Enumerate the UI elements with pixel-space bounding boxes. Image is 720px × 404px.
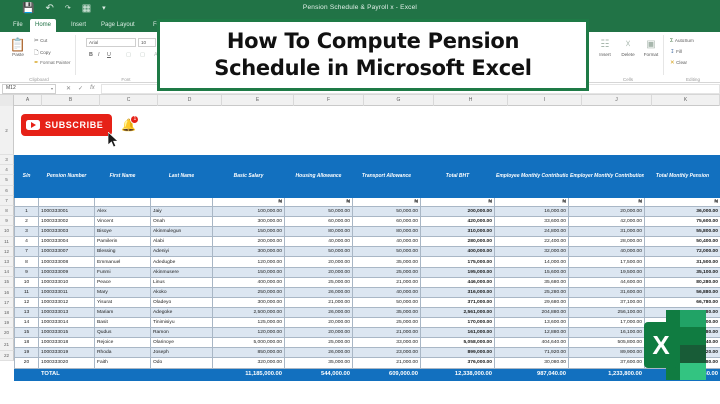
cell-employee-contrib[interactable]: 22,400.00 <box>495 237 569 247</box>
column-header-B[interactable]: B <box>42 95 100 106</box>
cell-employee-contrib[interactable]: 13,600.00 <box>495 318 569 328</box>
cell-sn[interactable]: 13 <box>15 307 39 317</box>
cell-employer-contrib[interactable]: 19,500.00 <box>569 267 645 277</box>
column-header-K[interactable]: K <box>652 95 720 106</box>
cell-total-pension[interactable]: 36,000.00 <box>645 207 720 217</box>
cell-total-bht[interactable]: 280,000.00 <box>421 237 495 247</box>
cell-employer-contrib[interactable]: 31,000.00 <box>569 227 645 237</box>
table-row[interactable]: 181000333018RejoiceOlarinoye5,000,000.00… <box>15 338 720 348</box>
column-header-H[interactable]: H <box>434 95 508 106</box>
cell-last-name[interactable]: Onah <box>151 217 213 227</box>
cell-total-pension[interactable]: 72,000.00 <box>645 247 720 257</box>
cell-basic-salary[interactable]: 5,000,000.00 <box>213 338 285 348</box>
font-size-input[interactable]: 10 <box>138 38 156 47</box>
cell-pension-number[interactable]: 1000333009 <box>39 267 95 277</box>
column-header-G[interactable]: G <box>364 95 434 106</box>
cell-first-name[interactable]: Funmi <box>95 267 151 277</box>
paste-icon: 📋 <box>5 37 31 52</box>
currency-blank <box>151 198 213 207</box>
cell-total-bht[interactable]: 446,000.00 <box>421 277 495 287</box>
subscribe-label: SUBSCRIBE <box>45 120 103 130</box>
underline-button[interactable]: U <box>107 52 111 58</box>
autosum-button[interactable]: ΣAutoSum <box>670 38 694 44</box>
paste-button[interactable]: 📋 Paste <box>5 37 31 57</box>
borders-icon[interactable]: ▢ <box>126 52 131 58</box>
cell-pension-number[interactable]: 1000333020 <box>39 358 95 368</box>
row-header[interactable]: 14 <box>0 267 14 277</box>
table-row[interactable]: 121000333012YisuratOladeyo300,000.0021,0… <box>15 297 720 307</box>
cell-last-name[interactable]: Jaiy <box>151 207 213 217</box>
cell-basic-salary[interactable]: 150,000.00 <box>213 227 285 237</box>
cell-housing[interactable]: 50,000.00 <box>285 247 353 257</box>
currency-symbol-row: ₦ ₦ ₦ ₦ ₦ ₦ ₦ <box>15 198 720 207</box>
scissors-icon: ✂ <box>34 38 39 44</box>
col-total-bht: Total BHT <box>421 156 495 198</box>
cell-employer-contrib[interactable]: 505,800.00 <box>569 338 645 348</box>
row-header[interactable]: 11 <box>0 237 14 247</box>
cell-last-name[interactable]: Akinmusere <box>151 267 213 277</box>
total-employer-contribution: 1,233,800.00 <box>569 368 645 380</box>
tab-page-layout[interactable]: Page Layout <box>96 19 140 32</box>
cell-employer-contrib[interactable]: 31,600.00 <box>569 287 645 297</box>
cell-first-name[interactable]: Faith <box>95 358 151 368</box>
cell-basic-salary[interactable]: 850,000.00 <box>213 348 285 358</box>
cell-pension-number[interactable]: 1000333004 <box>39 237 95 247</box>
cell-sn[interactable]: 20 <box>15 358 39 368</box>
row-header[interactable]: 21 <box>0 339 14 351</box>
cell-employee-contrib[interactable]: 32,000.00 <box>495 247 569 257</box>
cell-housing[interactable]: 40,000.00 <box>285 237 353 247</box>
cell-last-name[interactable]: Adegoke <box>151 307 213 317</box>
row-header[interactable]: 20 <box>0 328 14 338</box>
cell-employer-contrib[interactable]: 17,000.00 <box>569 318 645 328</box>
row-header[interactable]: 5 <box>0 175 14 185</box>
col-housing-allowance: Housing Allowance <box>285 156 353 198</box>
cell-total-bht[interactable]: 400,000.00 <box>421 247 495 257</box>
cell-first-name[interactable]: Bisoye <box>95 227 151 237</box>
table-row[interactable]: 151000333015QudusRamon120,000.0020,000.0… <box>15 328 720 338</box>
cell-housing[interactable]: 25,000.00 <box>285 338 353 348</box>
table-row[interactable]: 31000333003BisoyeAkinmulegun150,000.0080… <box>15 227 720 237</box>
col-first-name: First Name <box>95 156 151 198</box>
cell-employer-contrib[interactable]: 20,000.00 <box>569 207 645 217</box>
cell-employee-contrib[interactable]: 25,280.00 <box>495 287 569 297</box>
cell-first-name[interactable]: Rejoice <box>95 338 151 348</box>
cell-housing[interactable]: 20,000.00 <box>285 267 353 277</box>
fill-icon: ↧ <box>670 49 675 55</box>
cell-employee-contrib[interactable]: 71,920.00 <box>495 348 569 358</box>
cell-transport[interactable]: 25,000.00 <box>353 267 421 277</box>
table-row[interactable]: 101000333010PeaceLinus400,000.0025,000.0… <box>15 277 720 287</box>
cell-total-bht[interactable]: 371,000.00 <box>421 297 495 307</box>
ribbon-group-cells: ☷ Insert ☓ Delete ▣ Format Cells <box>592 33 664 82</box>
tab-insert[interactable]: Insert <box>66 19 91 32</box>
cut-button[interactable]: ✂Cut <box>34 38 47 44</box>
cell-transport[interactable]: 50,000.00 <box>353 207 421 217</box>
row-header[interactable]: 15 <box>0 277 14 287</box>
font-name-input[interactable]: Arial <box>86 38 136 47</box>
cell-pension-number[interactable]: 1000333001 <box>39 207 95 217</box>
table-row[interactable]: 201000333020FaithOdo320,000.0035,000.002… <box>15 358 720 368</box>
cell-transport[interactable]: 25,000.00 <box>353 318 421 328</box>
cell-employee-contrib[interactable]: 33,600.00 <box>495 217 569 227</box>
notification-bell[interactable]: 🔔 1 <box>120 115 136 135</box>
cell-employer-contrib[interactable]: 42,000.00 <box>569 217 645 227</box>
cell-total-bht[interactable]: 161,000.00 <box>421 328 495 338</box>
cell-transport[interactable]: 21,000.00 <box>353 328 421 338</box>
italic-button[interactable]: I <box>98 52 100 58</box>
column-header-row: A B C D E F G H I J K <box>0 95 720 106</box>
cell-transport[interactable]: 80,000.00 <box>353 227 421 237</box>
cell-basic-salary[interactable]: 100,000.00 <box>213 207 285 217</box>
pension-schedule-table: S/n Pension Number First Name Last Name … <box>14 155 720 381</box>
currency-total-bht: ₦ <box>421 198 495 207</box>
cell-basic-salary[interactable]: 320,000.00 <box>213 358 285 368</box>
cell-total-bht[interactable]: 5,058,000.00 <box>421 338 495 348</box>
group-divider <box>75 35 76 75</box>
cell-housing[interactable]: 20,000.00 <box>285 328 353 338</box>
cell-basic-salary[interactable]: 125,000.00 <box>213 318 285 328</box>
cell-pension-number[interactable]: 1000333018 <box>39 338 95 348</box>
fill-color-icon[interactable]: ▢ <box>140 52 145 58</box>
column-header-F[interactable]: F <box>294 95 364 106</box>
cell-housing[interactable]: 80,000.00 <box>285 227 353 237</box>
cell-employee-contrib[interactable]: 204,880.00 <box>495 307 569 317</box>
cell-employer-contrib[interactable]: 44,600.00 <box>569 277 645 287</box>
cell-pension-number[interactable]: 1000333008 <box>39 257 95 267</box>
cell-employer-contrib[interactable]: 17,500.00 <box>569 257 645 267</box>
cell-basic-salary[interactable]: 2,500,000.00 <box>213 307 285 317</box>
cell-first-name[interactable]: Pamilerin <box>95 237 151 247</box>
cell-housing[interactable]: 21,000.00 <box>285 297 353 307</box>
cell-total-bht[interactable]: 175,000.00 <box>421 257 495 267</box>
table-row[interactable]: 41000333004PamilerinAlabi200,000.0040,00… <box>15 237 720 247</box>
group-label-clipboard: Clipboard <box>2 77 76 82</box>
delete-icon: ☓ <box>617 37 639 52</box>
row-header[interactable]: 13 <box>0 257 14 267</box>
cell-employee-contrib[interactable]: 15,600.00 <box>495 267 569 277</box>
cell-total-bht[interactable]: 420,000.00 <box>421 217 495 227</box>
col-basic-salary: Basic Salary <box>213 156 285 198</box>
cell-housing[interactable]: 50,000.00 <box>285 207 353 217</box>
table-row[interactable]: 141000333014BasitTinimisiyu125,000.0020,… <box>15 318 720 328</box>
col-pension-number: Pension Number <box>39 156 95 198</box>
cell-pension-number[interactable]: 1000333011 <box>39 287 95 297</box>
overlay-title-line-1: How To Compute Pension <box>227 28 519 55</box>
cell-sn[interactable]: 2 <box>15 217 39 227</box>
cell-total-bht[interactable]: 170,000.00 <box>421 318 495 328</box>
cell-pension-number[interactable]: 1000333015 <box>39 328 95 338</box>
cell-sn[interactable]: 7 <box>15 247 39 257</box>
cell-sn[interactable]: 10 <box>15 277 39 287</box>
total-transport: 609,000.00 <box>353 368 421 380</box>
cell-total-pension[interactable]: 55,800.00 <box>645 227 720 237</box>
cell-last-name[interactable]: Joseph <box>151 348 213 358</box>
cell-total-bht[interactable]: 899,000.00 <box>421 348 495 358</box>
row-header[interactable]: 19 <box>0 318 14 328</box>
cell-employee-contrib[interactable]: 14,000.00 <box>495 257 569 267</box>
clear-button[interactable]: ✕Clear <box>670 60 687 66</box>
currency-blank <box>95 198 151 207</box>
cancel-formula-button[interactable]: ✕ <box>66 85 71 92</box>
insert-icon: ☷ <box>594 37 616 52</box>
cell-employee-contrib[interactable]: 404,640.00 <box>495 338 569 348</box>
cell-employee-contrib[interactable]: 12,880.00 <box>495 328 569 338</box>
currency-blank <box>39 198 95 207</box>
table-row[interactable]: 21000333002VincentOnah300,000.0060,000.0… <box>15 217 720 227</box>
currency-employer: ₦ <box>569 198 645 207</box>
row-header[interactable]: 16 <box>0 288 14 298</box>
cell-total-bht[interactable]: 195,000.00 <box>421 267 495 277</box>
cell-pension-number[interactable]: 1000333014 <box>39 318 95 328</box>
cell-total-pension[interactable]: 56,880.00 <box>645 287 720 297</box>
cell-first-name[interactable]: Alex <box>95 207 151 217</box>
cell-total-pension[interactable]: 35,100.00 <box>645 267 720 277</box>
row-header[interactable]: 18 <box>0 308 14 318</box>
cell-pension-number[interactable]: 1000333012 <box>39 297 95 307</box>
name-box[interactable]: M12 ▾ <box>2 84 56 94</box>
cell-last-name[interactable]: Tinimisiyu <box>151 318 213 328</box>
cell-pension-number[interactable]: 1000333013 <box>39 307 95 317</box>
row-header[interactable]: 8 <box>0 206 14 216</box>
cell-sn[interactable]: 18 <box>15 338 39 348</box>
bold-button[interactable]: B <box>89 52 93 58</box>
cell-total-pension[interactable]: 75,600.00 <box>645 217 720 227</box>
cell-first-name[interactable]: Qudus <box>95 328 151 338</box>
delete-cells-button[interactable]: ☓ Delete <box>617 37 639 57</box>
cell-basic-salary[interactable]: 200,000.00 <box>213 237 285 247</box>
cell-basic-salary[interactable]: 150,000.00 <box>213 267 285 277</box>
cell-basic-salary[interactable]: 300,000.00 <box>213 217 285 227</box>
cell-total-bht[interactable]: 200,000.00 <box>421 207 495 217</box>
select-all-corner[interactable] <box>0 95 14 106</box>
insert-function-button[interactable]: fx <box>90 85 95 92</box>
eraser-icon: ✕ <box>670 60 675 66</box>
cell-employee-contrib[interactable]: 35,680.00 <box>495 277 569 287</box>
table-row[interactable]: 111000333011MaryAkoko250,000.0026,000.00… <box>15 287 720 297</box>
cell-sn[interactable]: 9 <box>15 267 39 277</box>
cell-employer-contrib[interactable]: 37,100.00 <box>569 297 645 307</box>
cell-first-name[interactable]: Yisurat <box>95 297 151 307</box>
total-blank <box>151 368 213 380</box>
total-blank <box>95 368 151 380</box>
row-header[interactable]: 6 <box>0 186 14 196</box>
cell-first-name[interactable]: Peace <box>95 277 151 287</box>
insert-cells-button[interactable]: ☷ Insert <box>594 37 616 57</box>
format-cells-button[interactable]: ▣ Format <box>640 37 662 57</box>
cell-basic-salary[interactable]: 300,000.00 <box>213 297 285 307</box>
cell-transport[interactable]: 35,000.00 <box>353 307 421 317</box>
cell-employee-contrib[interactable]: 30,080.00 <box>495 358 569 368</box>
cell-pension-number[interactable]: 1000333003 <box>39 227 95 237</box>
cell-total-pension[interactable]: 80,280.00 <box>645 277 720 287</box>
currency-employee: ₦ <box>495 198 569 207</box>
group-label-cells: Cells <box>592 77 664 82</box>
tab-file[interactable]: File <box>8 19 28 32</box>
cell-employee-contrib[interactable]: 29,680.00 <box>495 297 569 307</box>
cell-employee-contrib[interactable]: 16,000.00 <box>495 207 569 217</box>
cell-employer-contrib[interactable]: 28,000.00 <box>569 237 645 247</box>
cell-sn[interactable]: 19 <box>15 348 39 358</box>
cell-first-name[interactable]: Basit <box>95 318 151 328</box>
cell-sn[interactable]: 12 <box>15 297 39 307</box>
cell-basic-salary[interactable]: 120,000.00 <box>213 257 285 267</box>
column-header-I[interactable]: I <box>508 95 582 106</box>
cell-first-name[interactable]: Blessing <box>95 247 151 257</box>
col-last-name: Last Name <box>151 156 213 198</box>
cell-last-name[interactable]: Adedugbe <box>151 257 213 267</box>
cell-last-name[interactable]: Odo <box>151 358 213 368</box>
table-header-row: S/n Pension Number First Name Last Name … <box>15 156 720 198</box>
cell-housing[interactable]: 20,000.00 <box>285 318 353 328</box>
col-sn: S/n <box>15 156 39 198</box>
total-employee-contribution: 987,040.00 <box>495 368 569 380</box>
currency-total-pension: ₦ <box>645 198 720 207</box>
cell-last-name[interactable]: Akoko <box>151 287 213 297</box>
cell-housing[interactable]: 35,000.00 <box>285 358 353 368</box>
cell-employer-contrib[interactable]: 89,900.00 <box>569 348 645 358</box>
col-employee-contribution: Employee Monthly Contribution (8% x BHT) <box>495 156 569 198</box>
table-total-row: TOTAL 11,185,000.00 544,000.00 609,000.0… <box>15 368 720 380</box>
cell-first-name[interactable]: Mariam <box>95 307 151 317</box>
column-header-E[interactable]: E <box>222 95 294 106</box>
sigma-icon: Σ <box>670 38 673 44</box>
column-header-J[interactable]: J <box>582 95 652 106</box>
row-header[interactable]: 7 <box>0 196 14 206</box>
cell-sn[interactable]: 11 <box>15 287 39 297</box>
cell-housing[interactable]: 26,000.00 <box>285 287 353 297</box>
cell-employer-contrib[interactable]: 40,000.00 <box>569 247 645 257</box>
cell-last-name[interactable]: Olarinoye <box>151 338 213 348</box>
cell-total-pension[interactable]: 50,400.00 <box>645 237 720 247</box>
row-header[interactable]: 9 <box>0 216 14 226</box>
cell-last-name[interactable]: Linus <box>151 277 213 287</box>
cell-pension-number[interactable]: 1000333002 <box>39 217 95 227</box>
cell-sn[interactable]: 15 <box>15 328 39 338</box>
cell-employer-contrib[interactable]: 16,100.00 <box>569 328 645 338</box>
cell-basic-salary[interactable]: 250,000.00 <box>213 287 285 297</box>
cell-transport[interactable]: 21,000.00 <box>353 358 421 368</box>
row-header[interactable]: 10 <box>0 226 14 236</box>
table-body: 11000333001AlexJaiy100,000.0050,000.0050… <box>15 207 720 369</box>
row-header[interactable]: 2 <box>0 106 14 155</box>
table-row[interactable]: 71000333007BlessingAdeniyi300,000.0050,0… <box>15 247 720 257</box>
cell-transport[interactable]: 35,000.00 <box>353 257 421 267</box>
fill-button[interactable]: ↧Fill <box>670 49 682 55</box>
cell-total-bht[interactable]: 2,561,000.00 <box>421 307 495 317</box>
cell-first-name[interactable]: Emmanuel <box>95 257 151 267</box>
cell-transport[interactable]: 33,000.00 <box>353 338 421 348</box>
cell-last-name[interactable]: Akinmulegun <box>151 227 213 237</box>
col-transport-allowance: Transport Allowance <box>353 156 421 198</box>
row-header[interactable]: 17 <box>0 298 14 308</box>
cell-housing[interactable]: 26,000.00 <box>285 307 353 317</box>
cell-total-bht[interactable]: 376,000.00 <box>421 358 495 368</box>
column-header-D[interactable]: D <box>158 95 222 106</box>
excel-window: 💾 ↶ ↷ ▦ ▾ Pension Schedule & Payroll x -… <box>0 0 720 404</box>
cell-pension-number[interactable]: 1000333019 <box>39 348 95 358</box>
video-title-overlay: How To Compute Pension Schedule in Micro… <box>157 19 589 91</box>
format-icon: ▣ <box>640 37 662 52</box>
cell-sn[interactable]: 4 <box>15 237 39 247</box>
cell-first-name[interactable]: Rhoda <box>95 348 151 358</box>
cell-transport[interactable]: 50,000.00 <box>353 297 421 307</box>
cell-pension-number[interactable]: 1000333007 <box>39 247 95 257</box>
cell-employer-contrib[interactable]: 37,600.00 <box>569 358 645 368</box>
group-label-editing: Editing <box>666 77 720 82</box>
group-divider <box>663 35 664 75</box>
cell-transport[interactable]: 50,000.00 <box>353 247 421 257</box>
total-blank <box>15 368 39 380</box>
column-header-C[interactable]: C <box>100 95 158 106</box>
table-row[interactable]: 131000333013MariamAdegoke2,500,000.0026,… <box>15 307 720 317</box>
cell-sn[interactable]: 3 <box>15 227 39 237</box>
row-header[interactable]: 4 <box>0 165 14 175</box>
cell-employee-contrib[interactable]: 24,800.00 <box>495 227 569 237</box>
cell-sn[interactable]: 1 <box>15 207 39 217</box>
subscribe-button[interactable]: SUBSCRIBE <box>21 114 112 136</box>
cell-housing[interactable]: 60,000.00 <box>285 217 353 227</box>
ribbon-group-editing: ΣAutoSum ↧Fill ✕Clear Editing <box>666 33 720 82</box>
row-header[interactable]: 22 <box>0 351 14 361</box>
cell-basic-salary[interactable]: 120,000.00 <box>213 328 285 338</box>
row-header[interactable]: 12 <box>0 247 14 257</box>
window-title: Pension Schedule & Payroll x - Excel <box>0 4 720 11</box>
paintbrush-icon: ✒ <box>34 60 39 66</box>
cell-last-name[interactable]: Alabi <box>151 237 213 247</box>
cell-transport[interactable]: 21,000.00 <box>353 277 421 287</box>
table-row[interactable]: 11000333001AlexJaiy100,000.0050,000.0050… <box>15 207 720 217</box>
cell-transport[interactable]: 23,000.00 <box>353 348 421 358</box>
title-bar: 💾 ↶ ↷ ▦ ▾ Pension Schedule & Payroll x -… <box>0 0 720 19</box>
cell-first-name[interactable]: Vincent <box>95 217 151 227</box>
cell-transport[interactable]: 40,000.00 <box>353 287 421 297</box>
cell-sn[interactable]: 8 <box>15 257 39 267</box>
cell-basic-salary[interactable]: 400,000.00 <box>213 277 285 287</box>
row-header[interactable]: 3 <box>0 155 14 165</box>
cell-transport[interactable]: 40,000.00 <box>353 237 421 247</box>
cell-total-bht[interactable]: 316,000.00 <box>421 287 495 297</box>
table-row[interactable]: 91000333009FunmiAkinmusere150,000.0020,0… <box>15 267 720 277</box>
table-row[interactable]: 191000333019RhodaJoseph850,000.0026,000.… <box>15 348 720 358</box>
currency-housing: ₦ <box>285 198 353 207</box>
cell-total-bht[interactable]: 310,000.00 <box>421 227 495 237</box>
cell-sn[interactable]: 14 <box>15 318 39 328</box>
copy-button[interactable]: 🗋Copy <box>34 49 51 58</box>
cursor-arrow-icon <box>108 132 119 148</box>
cell-housing[interactable]: 25,000.00 <box>285 277 353 287</box>
cell-last-name[interactable]: Ramon <box>151 328 213 338</box>
cell-employer-contrib[interactable]: 256,100.00 <box>569 307 645 317</box>
cell-housing[interactable]: 20,000.00 <box>285 257 353 267</box>
column-header-A[interactable]: A <box>14 95 42 106</box>
cell-basic-salary[interactable]: 300,000.00 <box>213 247 285 257</box>
cell-housing[interactable]: 26,000.00 <box>285 348 353 358</box>
cell-pension-number[interactable]: 1000333010 <box>39 277 95 287</box>
cell-total-pension[interactable]: 31,500.00 <box>645 257 720 267</box>
cell-last-name[interactable]: Oladeyo <box>151 297 213 307</box>
enter-formula-button[interactable]: ✓ <box>78 85 83 92</box>
cell-last-name[interactable]: Adeniyi <box>151 247 213 257</box>
cell-first-name[interactable]: Mary <box>95 287 151 297</box>
table-row[interactable]: 81000333008EmmanuelAdedugbe120,000.0020,… <box>15 257 720 267</box>
cell-total-pension[interactable]: 66,780.00 <box>645 297 720 307</box>
tab-home[interactable]: Home <box>30 19 56 32</box>
format-painter-button[interactable]: ✒Format Painter <box>34 60 71 66</box>
excel-logo: X <box>640 310 706 380</box>
chevron-down-icon[interactable]: ▾ <box>51 84 53 93</box>
cell-transport[interactable]: 60,000.00 <box>353 217 421 227</box>
